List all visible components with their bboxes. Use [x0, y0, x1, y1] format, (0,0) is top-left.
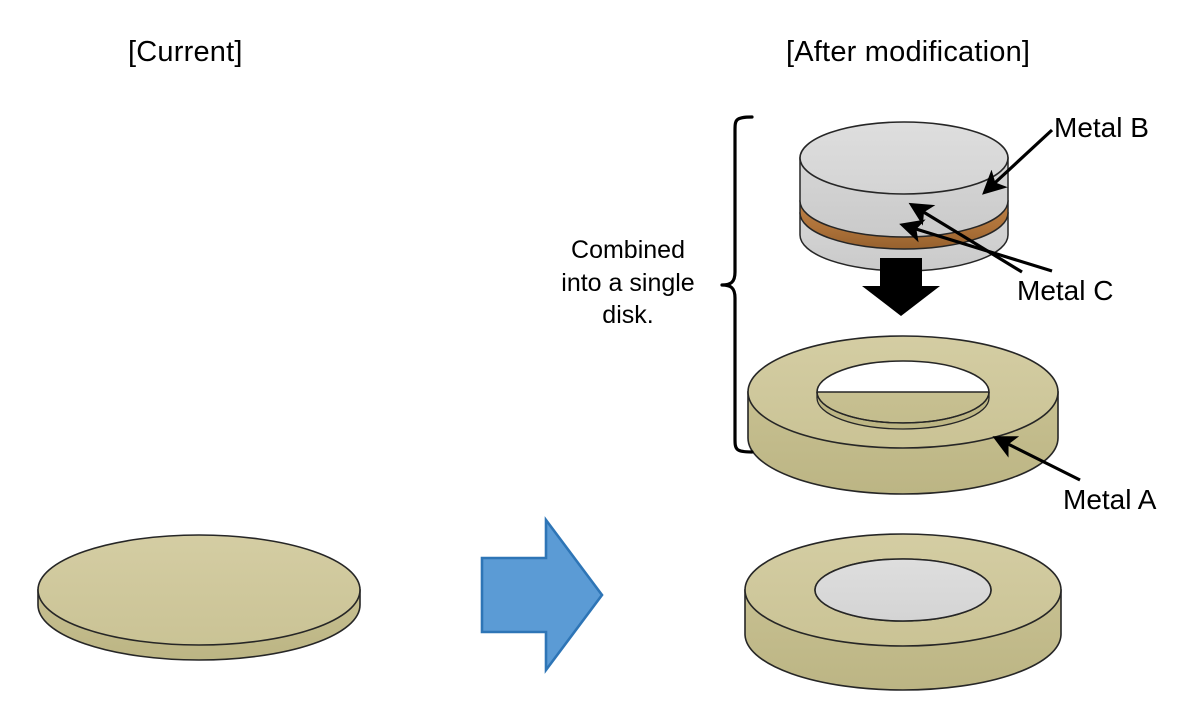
- note-combined-into-single-disk: Combined into a single disk.: [548, 234, 708, 332]
- current-metal-a-disk: [38, 535, 360, 660]
- label-metal-c: Metal C: [1017, 275, 1113, 307]
- label-metal-b: Metal B: [1054, 112, 1149, 144]
- process-arrow-icon: [482, 520, 602, 670]
- diagram-artwork: [0, 0, 1184, 720]
- assembled-disk: [745, 534, 1061, 690]
- label-metal-a: Metal A: [1063, 484, 1156, 516]
- diagram-canvas: [Current] [After modification]: [0, 0, 1184, 720]
- metal-a-ring: [748, 336, 1058, 494]
